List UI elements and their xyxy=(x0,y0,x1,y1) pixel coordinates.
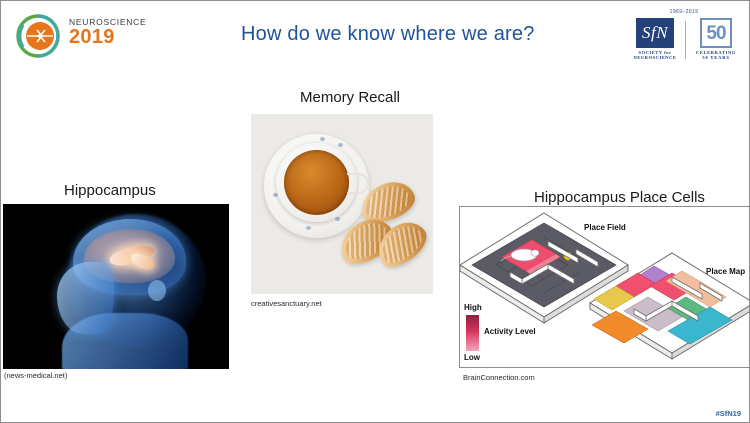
legend-gradient-bar xyxy=(466,315,479,351)
tea-liquid xyxy=(284,150,350,215)
place-cells-heading: Hippocampus Place Cells xyxy=(534,189,705,206)
neuroscience-2019-logo: NEUROSCIENCE 2019 xyxy=(15,13,165,61)
ear-shape xyxy=(148,280,166,301)
brand-wordmark: NEUROSCIENCE 2019 xyxy=(69,17,146,48)
anniversary-line2: 50 YEARS xyxy=(691,55,741,60)
activity-level-legend: High Activity Level Low xyxy=(464,303,556,363)
sfn-monogram: SfN xyxy=(636,18,674,48)
legend-scale-label: Activity Level xyxy=(484,327,536,336)
sfn-society-line2: NEUROSCIENCE xyxy=(629,55,681,60)
hippocampus-caption: (news-medical.net) xyxy=(4,371,67,380)
memory-recall-caption: creativesanctuary.net xyxy=(251,299,322,308)
hashtag-footer: #SfN19 xyxy=(716,409,741,418)
anniversary-year-range: 1969–2019 xyxy=(625,9,743,15)
hippocampus-heading: Hippocampus xyxy=(64,182,156,199)
society-logo-lockup: 1969–2019 SfN SOCIETY for NEUROSCIENCE 5… xyxy=(625,9,743,67)
cup-handle xyxy=(347,173,369,193)
legend-low-label: Low xyxy=(464,353,480,362)
neuroscience-brain-circle-icon xyxy=(15,13,63,59)
memory-recall-heading: Memory Recall xyxy=(300,89,400,106)
place-cells-figure: Place Field xyxy=(459,206,750,368)
sfn-logo: SfN SOCIETY for NEUROSCIENCE xyxy=(629,18,681,60)
place-cells-caption: BrainConnection.com xyxy=(463,373,535,382)
place-map-label: Place Map xyxy=(706,267,745,276)
face-profile-shape xyxy=(57,262,114,335)
tea-and-madeleines-image xyxy=(251,114,433,294)
slide-title: How do we know where we are? xyxy=(241,23,571,46)
legend-high-label: High xyxy=(464,303,482,312)
anniversary-number: 50 xyxy=(700,18,732,48)
presentation-slide: NEUROSCIENCE 2019 How do we know where w… xyxy=(0,0,750,423)
fifty-years-logo: 50 CELEBRATING 50 YEARS xyxy=(691,18,741,60)
place-field-label: Place Field xyxy=(584,223,626,232)
lockup-divider xyxy=(685,21,686,59)
hippocampus-brain-image xyxy=(3,204,229,369)
brand-year: 2019 xyxy=(69,27,146,48)
